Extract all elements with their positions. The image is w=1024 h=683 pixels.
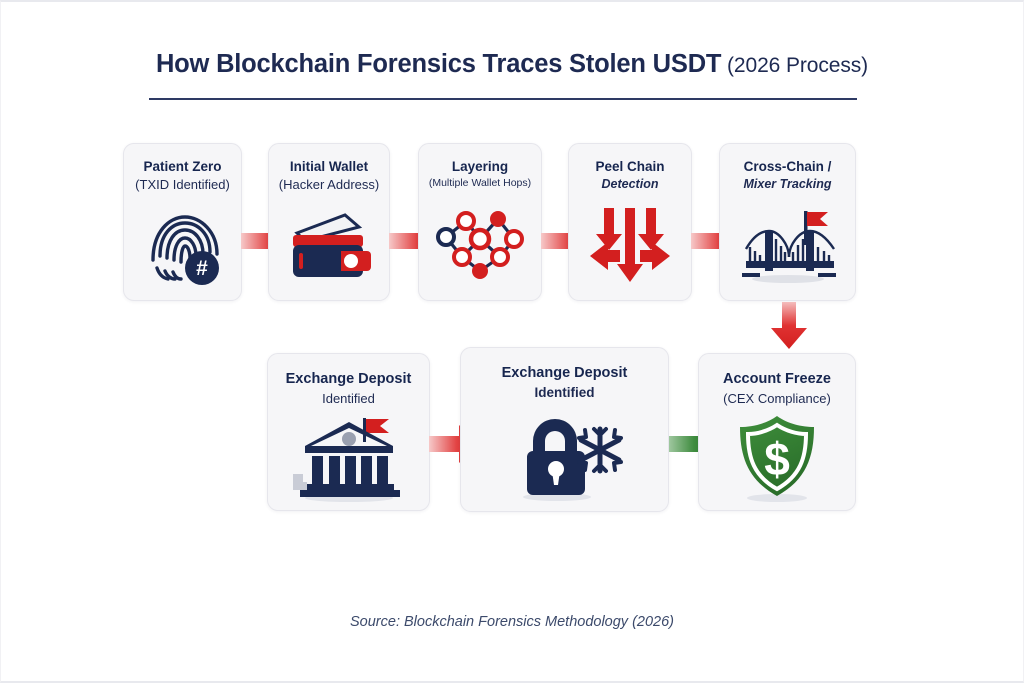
card-subtitle: Identified: [531, 385, 599, 402]
card-title: Exchange Deposit: [280, 370, 418, 389]
step-card-exchange-deposit[interactable]: Exchange Deposit Identified: [267, 353, 430, 511]
step-card-deposit-frozen[interactable]: Exchange Deposit Identified: [460, 347, 669, 512]
lock-snowflake-icon: [461, 401, 668, 511]
fingerprint-hash-icon: #: [124, 194, 241, 300]
svg-text:#: #: [196, 257, 208, 280]
svg-text:$: $: [764, 433, 790, 485]
card-subtitle: (Hacker Address): [275, 177, 383, 193]
page-title-suffix: (2026 Process): [721, 54, 868, 77]
card-subtitle: Detection: [598, 177, 663, 193]
card-title: Exchange Deposit: [496, 364, 634, 383]
page-title: How Blockchain Forensics Traces Stolen U…: [1, 50, 1023, 79]
card-title: Initial Wallet: [284, 158, 374, 175]
infographic-canvas: How Blockchain Forensics Traces Stolen U…: [0, 0, 1024, 683]
step-card-patient-zero[interactable]: Patient Zero (TXID Identified) #: [123, 143, 242, 301]
card-subtitle: Mixer Tracking: [739, 177, 835, 193]
card-title: Account Freeze: [717, 370, 837, 389]
step-card-layering[interactable]: Layering (Multiple Wallet Hops): [418, 143, 542, 301]
bridge-icon: [720, 193, 855, 300]
card-subtitle: (TXID Identified): [131, 177, 234, 193]
card-title: Layering: [446, 158, 514, 175]
title-underline: [149, 98, 857, 100]
page-title-main: How Blockchain Forensics Traces Stolen U…: [156, 50, 721, 78]
network-hops-icon: [419, 190, 541, 300]
arrow-down-red: [769, 302, 809, 355]
card-title: Peel Chain: [589, 158, 670, 175]
card-title: Cross-Chain /: [738, 158, 838, 175]
card-subtitle: (CEX Compliance): [719, 391, 835, 407]
card-title: Patient Zero: [137, 158, 227, 175]
card-subtitle: Identified: [318, 391, 379, 407]
step-card-cross-chain[interactable]: Cross-Chain / Mixer Tracking: [719, 143, 856, 301]
step-card-account-freeze[interactable]: Account Freeze (CEX Compliance) $: [698, 353, 856, 511]
source-note: Source: Blockchain Forensics Methodology…: [1, 614, 1023, 630]
wallet-icon: [269, 194, 389, 300]
card-subtitle: (Multiple Wallet Hops): [425, 177, 535, 190]
bank-icon: [268, 407, 429, 510]
step-card-peel-chain[interactable]: Peel Chain Detection: [568, 143, 692, 301]
peel-chain-arrows-icon: [569, 193, 691, 300]
shield-dollar-icon: $: [699, 407, 855, 510]
step-card-initial-wallet[interactable]: Initial Wallet (Hacker Address): [268, 143, 390, 301]
